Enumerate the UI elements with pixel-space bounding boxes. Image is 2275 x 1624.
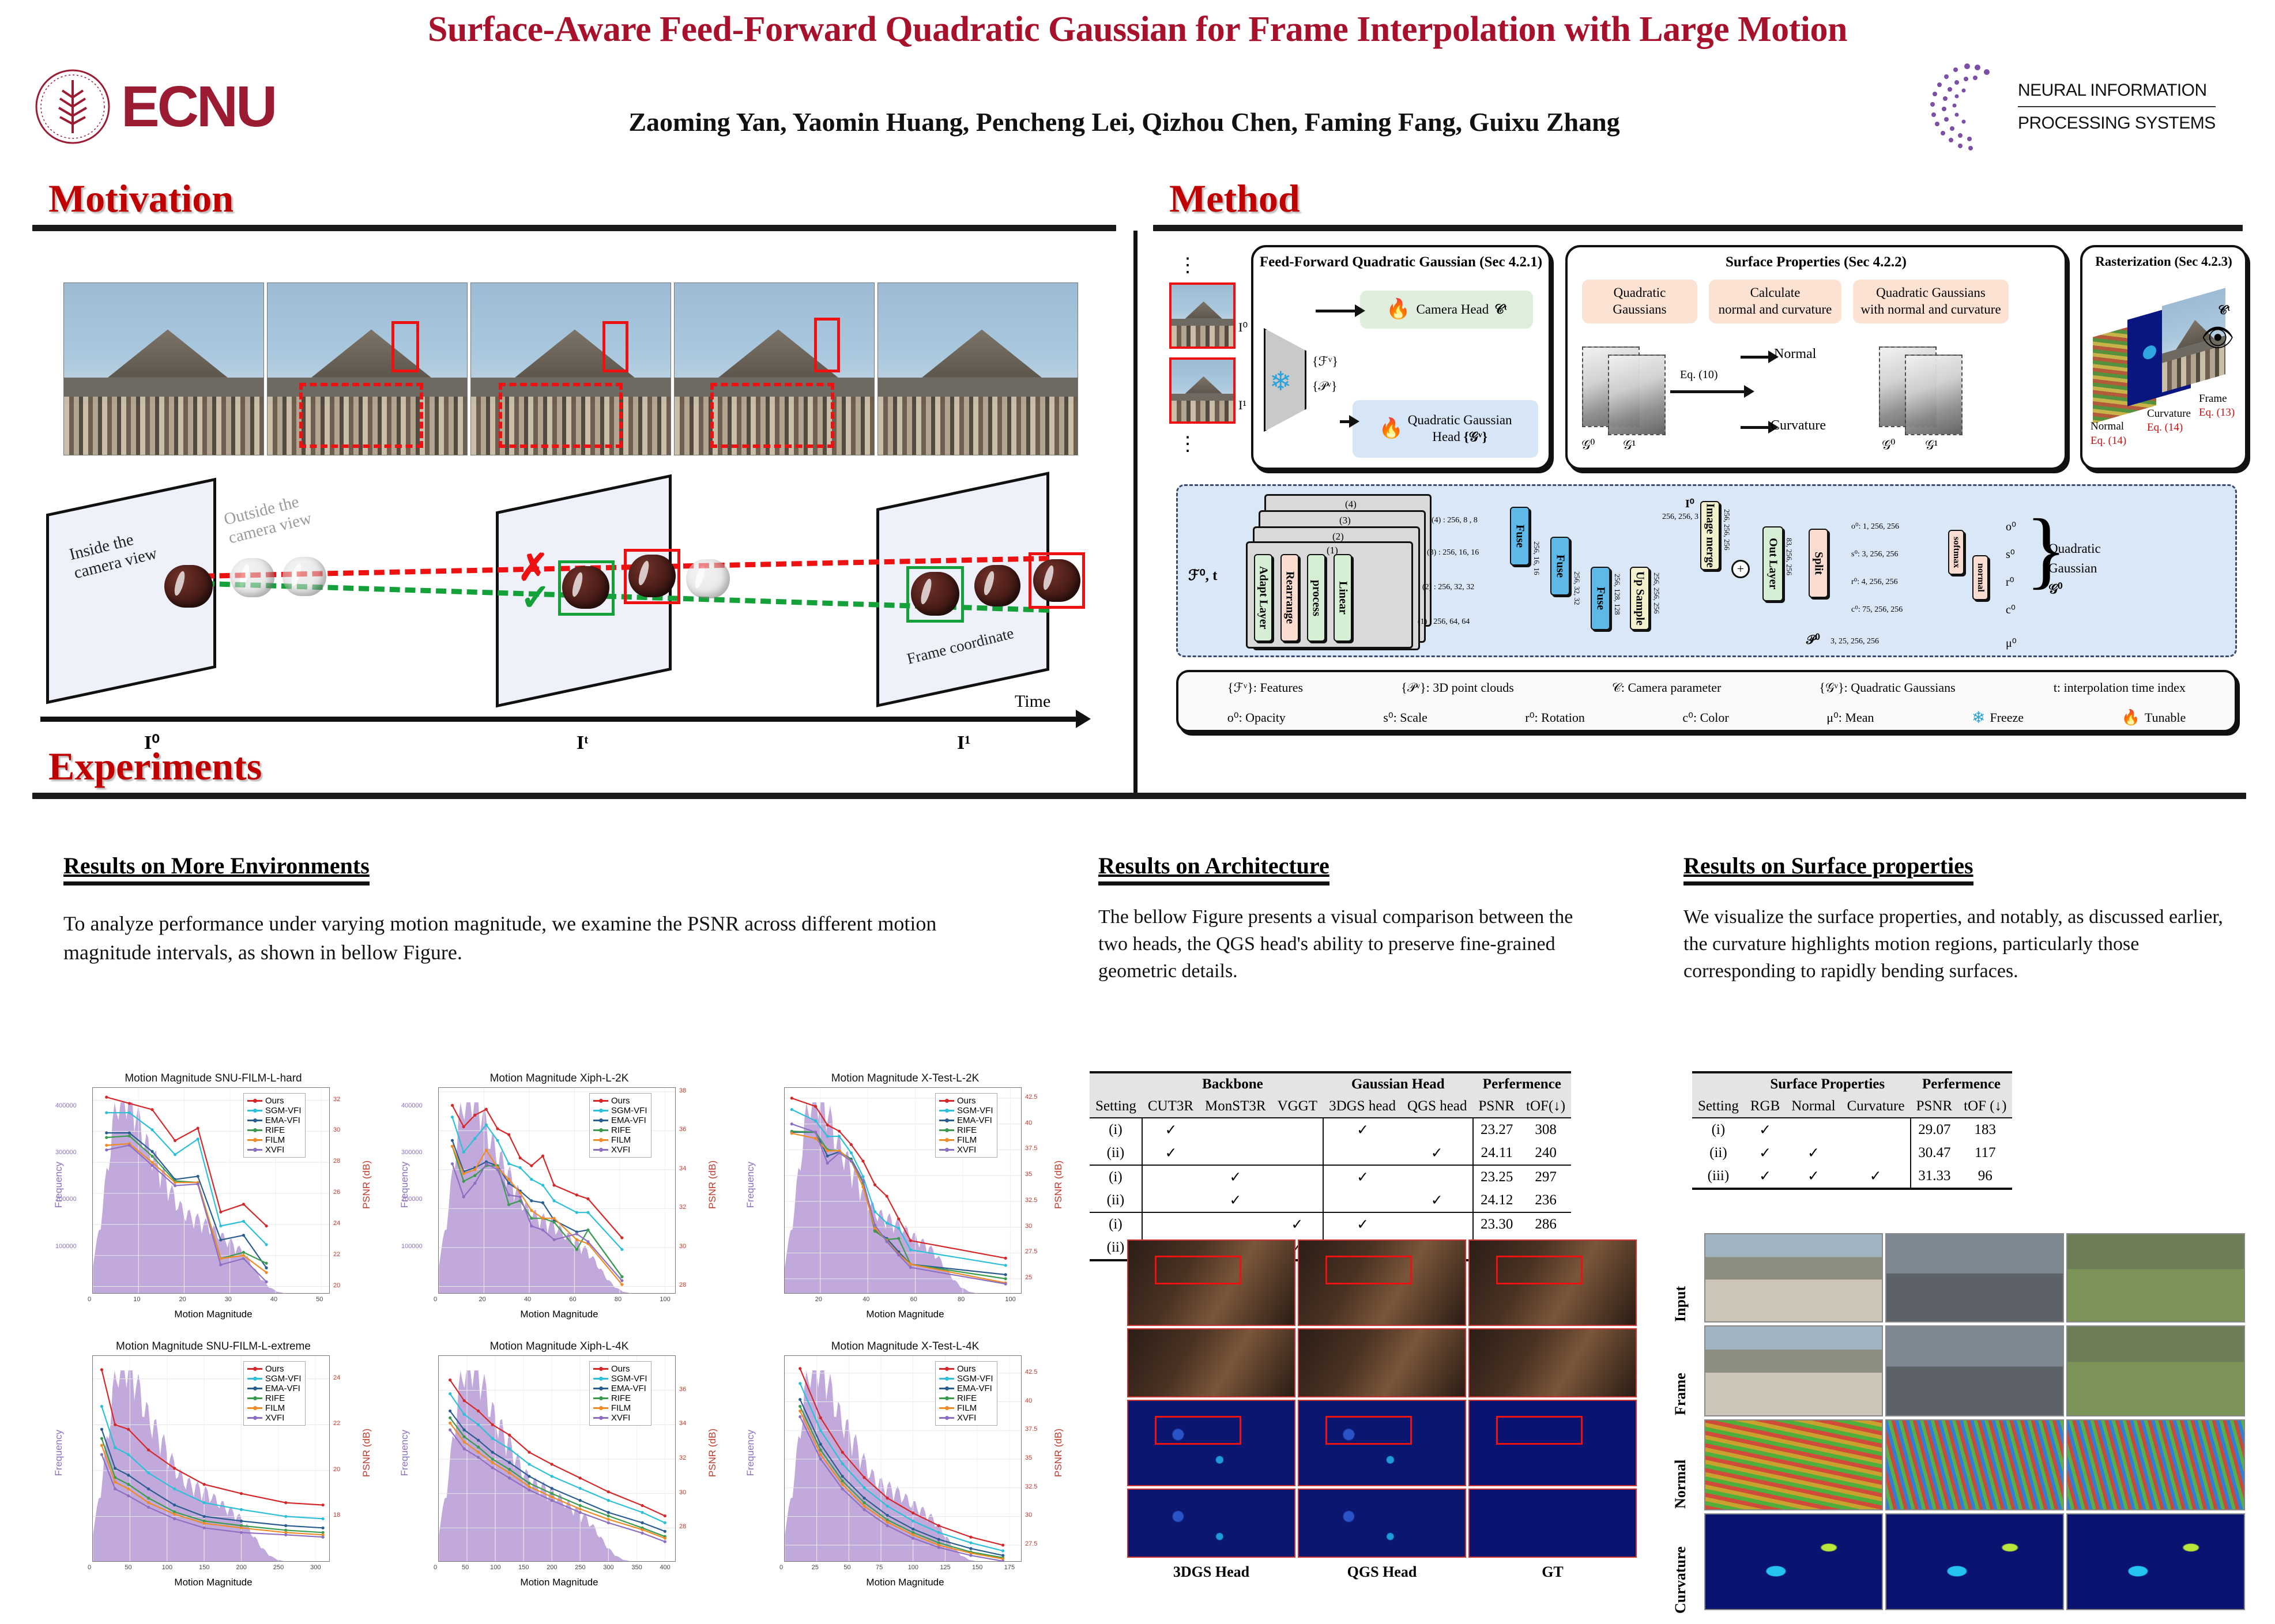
surf-cell-psnr: 30.47	[1911, 1141, 1958, 1165]
legend-freeze: Freeze	[1990, 710, 2024, 725]
arch-fuse-1-dim: 256, 16, 16	[1532, 541, 1541, 575]
features-symbol: {ℱᵛ}	[1312, 354, 1338, 369]
legend-color-swatch	[593, 1149, 608, 1151]
chart-xtick: 20	[179, 1296, 186, 1303]
method-input-I1-label: I¹	[1238, 398, 1246, 413]
legend-series-label: EMA-VFI	[265, 1384, 300, 1393]
camera-head-label: Camera Head	[1416, 302, 1489, 318]
surface-img-r1c3	[2066, 1233, 2245, 1322]
method-section: Method	[1153, 176, 2243, 231]
chart-legend-item: SGM-VFI	[247, 1106, 302, 1116]
chart-ylabel-right: PSNR (dB)	[707, 1429, 718, 1477]
legend-series-label: EMA-VFI	[265, 1116, 300, 1125]
chart-title: Motion Magnitude X-Test-L-4K	[744, 1340, 1067, 1353]
legend-series-label: FILM	[611, 1135, 631, 1145]
legend-series-label: EMA-VFI	[957, 1116, 992, 1125]
arch-img-r1c3	[1468, 1239, 1637, 1326]
legend-color-swatch	[593, 1139, 608, 1141]
legend-color-swatch	[939, 1139, 954, 1141]
arch-cell-vggt	[1272, 1141, 1323, 1165]
legend-color-swatch	[939, 1149, 954, 1151]
surface-results-table-wrap: Surface PropertiesPerfermenceSettingRGBN…	[1692, 1071, 2012, 1190]
legend-series-label: Ours	[265, 1096, 284, 1106]
ecnu-wordmark: ECNU	[121, 74, 275, 140]
chart-ytick-right: 32	[679, 1204, 686, 1211]
surf-cell-psnr: 31.33	[1911, 1165, 1958, 1189]
chart-xtick: 50	[125, 1564, 131, 1571]
g1-label-left: 𝒢¹	[1623, 438, 1636, 453]
chart-xlabel: Motion Magnitude	[744, 1577, 1067, 1588]
arrow-curvature	[1741, 426, 1769, 429]
section-header-method: Method	[1153, 176, 2243, 221]
arch-cell-psnr: 24.12	[1473, 1189, 1521, 1212]
arch-cell-setting: (ii)	[1090, 1141, 1142, 1165]
col1-heading: Results on More Environments	[63, 852, 370, 886]
chart-ytick-right: 37.5	[1025, 1426, 1037, 1433]
arch-upsample-dim: 256, 256, 256	[1652, 572, 1661, 614]
arch-sym-r: r⁰	[2006, 575, 2014, 589]
neurips-line-2: PROCESSING SYSTEMS	[2018, 111, 2216, 136]
surface-img-r4c2	[1885, 1513, 2064, 1610]
surf-col-3: Curvature	[1841, 1095, 1911, 1118]
arch-cell-monst3r	[1199, 1141, 1272, 1165]
chart-legend: OursSGM-VFIEMA-VFIRIFEFILMXVFI	[589, 1361, 651, 1426]
chart-5: Motion Magnitude Xiph-L-4K28303234360501…	[398, 1340, 721, 1588]
chart-title: Motion Magnitude Xiph-L-4K	[398, 1340, 721, 1353]
g1-label-right: 𝒢¹	[1925, 438, 1938, 453]
chart-ytick-right: 28	[679, 1282, 686, 1288]
legend-color-swatch	[593, 1129, 608, 1131]
normal-label: Normal	[1774, 346, 1816, 362]
arch-img-in-label: I⁰	[1685, 496, 1694, 511]
gaussian-cube-g1-out	[1905, 355, 1963, 435]
legend-points: {𝒫ᵛ}: 3D point clouds	[1401, 680, 1514, 695]
legend-series-label: FILM	[957, 1403, 977, 1413]
legend-color-swatch	[593, 1407, 608, 1409]
legend-color-swatch	[247, 1110, 262, 1111]
chart-xtick: 350	[631, 1564, 642, 1571]
chart-legend-item: XVFI	[247, 1145, 302, 1155]
legend-color-swatch	[593, 1397, 608, 1399]
arch-cell-cut3r	[1142, 1212, 1199, 1236]
arch-out-c: c⁰: 75, 256, 256	[1851, 605, 1903, 615]
surface-image-grid: Input Frame Normal Curvature	[1672, 1231, 2254, 1617]
arch-cell-tof: 308	[1520, 1118, 1571, 1141]
arch-fuse-3: Fuse	[1591, 567, 1610, 630]
arch-grid-caption-3: GT	[1468, 1563, 1637, 1581]
sp-box-with-normal-l1: Quadratic Gaussians	[1876, 285, 1986, 302]
g0-label-right: 𝒢⁰	[1882, 438, 1895, 453]
arch-grid-caption-1: 3DGS Head	[1127, 1563, 1295, 1581]
legend-series-label: RIFE	[265, 1125, 285, 1135]
chart-ytick-left: 300000	[55, 1149, 77, 1156]
arch-col-2: MonST3R	[1199, 1095, 1272, 1118]
surf-cell-normal: ✓	[1786, 1165, 1841, 1189]
legend-series-label: RIFE	[957, 1125, 977, 1135]
legend-color-swatch	[593, 1417, 608, 1419]
arch-img-r4c1	[1127, 1489, 1295, 1558]
chart-ylabel-left: Frequency	[53, 1430, 65, 1476]
arch-block-linear: Linear	[1334, 554, 1352, 642]
surf-cell-setting: (i)	[1692, 1118, 1745, 1141]
chart-ytick-right: 35	[1025, 1171, 1032, 1178]
chart-legend-item: Ours	[593, 1096, 647, 1106]
method-rule	[1153, 225, 2243, 231]
arch-brace-l2: Gaussian	[2048, 561, 2097, 576]
section-header-motivation: Motivation	[32, 176, 1116, 221]
legend-color-swatch	[939, 1388, 954, 1389]
table-row: (i)✓✓23.25297	[1090, 1165, 1571, 1189]
surf-cell-setting: (iii)	[1692, 1165, 1745, 1189]
chart-legend-item: SGM-VFI	[593, 1106, 647, 1116]
chart-2: Motion Magnitude Xiph-L-2K28303234363802…	[398, 1072, 721, 1320]
chart-4: Motion Magnitude SNU-FILM-L-extreme18202…	[52, 1340, 375, 1588]
points-symbol: {𝒫ᵛ}	[1312, 379, 1337, 394]
legend-series-label: XVFI	[265, 1145, 284, 1155]
chart-ylabel-left: Frequency	[745, 1430, 756, 1476]
method-panel-surface: Surface Properties (Sec 4.2.2) Quadratic…	[1565, 245, 2067, 470]
chart-legend-item: FILM	[939, 1403, 993, 1413]
chart-xtick: 400	[660, 1564, 670, 1571]
method-legend-box: {ℱᵛ}: Features {𝒫ᵛ}: 3D point clouds 𝒞: …	[1176, 670, 2237, 732]
legend-color-swatch	[593, 1120, 608, 1121]
arch-brace-l1: Quadratic	[2048, 541, 2101, 556]
arch-cell-setting: (i)	[1090, 1165, 1142, 1189]
chart-ytick-left: 100000	[55, 1243, 77, 1250]
curvature-label: Curvature	[1771, 418, 1826, 434]
arch-skip-4: (4) : 256, 8 , 8	[1432, 516, 1478, 525]
surface-img-r3c2	[1885, 1419, 2064, 1510]
legend-time: t: interpolation time index	[2054, 680, 2186, 695]
chart-legend-item: RIFE	[247, 1393, 302, 1403]
arch-cell-monst3r	[1199, 1118, 1272, 1141]
arch-grid-caption-2: QGS Head	[1298, 1563, 1466, 1581]
arch-block-adapt-layer: Adapt Layer	[1254, 554, 1272, 642]
arch-cell-tof: 240	[1520, 1141, 1571, 1165]
legend-series-label: Ours	[265, 1364, 284, 1374]
chart-ytick-right: 32.5	[1025, 1197, 1037, 1204]
outside-camera-view-label: Outside the camera view	[222, 482, 349, 548]
ecnu-logo: ECNU	[35, 63, 357, 150]
chart-legend-item: Ours	[247, 1364, 302, 1374]
ball-frame1-red-box	[1029, 552, 1085, 609]
chart-ylabel-left: Frequency	[399, 1430, 410, 1476]
chart-ytick-right: 30	[679, 1489, 686, 1496]
legend-color-swatch	[247, 1120, 262, 1121]
table-row: (ii)✓✓24.12236	[1090, 1189, 1571, 1212]
surface-row-caption-input: Input	[1672, 1235, 1689, 1322]
surf-cell-normal: ✓	[1786, 1141, 1841, 1165]
arch-upsample: Up Sample	[1630, 567, 1649, 630]
col2-heading: Results on Architecture	[1098, 852, 1329, 886]
surface-img-r2c3	[2066, 1325, 2245, 1416]
chart-legend-item: FILM	[247, 1135, 302, 1145]
legend-color-swatch	[593, 1110, 608, 1111]
arch-cell-monst3r: ✓	[1199, 1189, 1272, 1212]
legend-features: {ℱᵛ}: Features	[1227, 680, 1303, 695]
arch-cell-3dgs	[1323, 1141, 1402, 1165]
legend-series-label: RIFE	[611, 1125, 631, 1135]
arch-cell-monst3r: ✓	[1199, 1165, 1272, 1189]
chart-xlabel: Motion Magnitude	[52, 1577, 375, 1588]
legend-series-label: EMA-VFI	[611, 1384, 646, 1393]
experiments-col-1: Results on More Environments To analyze …	[63, 852, 1044, 967]
surf-cell-tof: 96	[1958, 1165, 2012, 1189]
col3-heading: Results on Surface properties	[1683, 852, 1973, 886]
method-legend-row-2: o⁰: Opacity s⁰: Scale r⁰: Rotation c⁰: C…	[1178, 708, 2235, 728]
arch-block-process: process	[1307, 554, 1325, 642]
arch-img-r1c1	[1127, 1239, 1295, 1326]
arch-sym-s: s⁰	[2006, 547, 2015, 562]
qgs-head-symbol: {𝒢ᵛ}	[1464, 429, 1487, 444]
legend-series-label: RIFE	[611, 1393, 631, 1403]
legend-series-label: SGM-VFI	[611, 1106, 647, 1116]
chart-ylabel-right: PSNR (dB)	[361, 1160, 372, 1209]
arch-block-rearrange: Rearrange	[1280, 554, 1299, 642]
method-architecture-panel: ℱ⁰, t (4) (3) (2) (1) Adapt Layer Rearra…	[1176, 484, 2237, 657]
chart-xtick: 100	[162, 1564, 172, 1571]
arch-cell-qgs	[1402, 1165, 1472, 1189]
ball-ghost-2	[283, 557, 326, 596]
chart-xtick: 0	[88, 1296, 91, 1303]
arch-fuse-2-dim: 256, 32, 32	[1572, 571, 1581, 605]
camera-head-symbol: 𝒞ᵗ	[1494, 302, 1507, 318]
method-panel-3-title: Rasterization (Sec 4.2.3)	[2082, 254, 2245, 269]
motivation-frame-1	[63, 282, 264, 455]
surf-cell-psnr: 29.07	[1911, 1118, 1958, 1141]
arch-col-7: tOF(↓)	[1520, 1095, 1571, 1118]
time-axis-label: Time	[1015, 692, 1050, 711]
chart-xlabel: Motion Magnitude	[398, 1577, 721, 1588]
vdots-bottom: ⋮	[1170, 432, 1205, 455]
chart-legend-item: Ours	[593, 1364, 647, 1374]
rast-camera-symbol: 𝒞ᵗ	[2218, 303, 2230, 318]
chart-legend: OursSGM-VFIEMA-VFIRIFEFILMXVFI	[935, 1361, 997, 1426]
chart-xtick: 20	[815, 1296, 822, 1303]
ball-frame1-green-box	[906, 566, 964, 623]
ball-frame1-mid	[974, 565, 1020, 606]
arch-cell-qgs	[1402, 1118, 1472, 1141]
chart-ytick-right: 18	[333, 1512, 340, 1519]
sp-box-calculate-l1: Calculate	[1750, 285, 1801, 302]
surface-img-r4c1	[1704, 1513, 1883, 1610]
arch-cell-tof: 236	[1520, 1189, 1571, 1212]
chart-ytick-right: 28	[679, 1523, 686, 1530]
surf-cell-curvature	[1841, 1118, 1911, 1141]
arch-img-r1c2	[1298, 1239, 1466, 1326]
arch-sym-mu: μ⁰	[2006, 636, 2017, 650]
snowflake-icon-legend: ❄	[1972, 708, 1985, 728]
legend-color-swatch	[939, 1378, 954, 1380]
arch-cell-vggt: ✓	[1272, 1212, 1323, 1236]
method-panel-1-title: Feed-Forward Quadratic Gaussian (Sec 4.2…	[1253, 254, 1549, 270]
arch-pointcloud-symbol: 𝒫⁰	[1806, 632, 1820, 647]
arch-out-s: s⁰: 3, 256, 256	[1851, 549, 1898, 559]
chart-ylabel-right: PSNR (dB)	[361, 1429, 372, 1477]
chart-xlabel: Motion Magnitude	[744, 1309, 1067, 1320]
chart-legend-item: EMA-VFI	[593, 1384, 647, 1393]
arch-cell-psnr: 23.25	[1473, 1165, 1521, 1189]
chart-ytick-right: 32	[333, 1096, 340, 1103]
arch-skip-2: (2) : 256, 32, 32	[1422, 583, 1474, 592]
arch-cell-setting: (i)	[1090, 1212, 1142, 1236]
legend-color-swatch	[247, 1149, 262, 1151]
qgs-head-label-2: Head	[1432, 429, 1460, 444]
legend-mean: μ⁰: Mean	[1826, 710, 1874, 725]
arch-fuse-2: Fuse	[1550, 537, 1570, 596]
chart-ytick-left: 300000	[401, 1149, 423, 1156]
chart-xtick: 30	[225, 1296, 232, 1303]
chart-ytick-right: 26	[333, 1189, 340, 1196]
legend-series-label: SGM-VFI	[957, 1374, 993, 1384]
chart-ytick-right: 36	[679, 1386, 686, 1393]
arch-image-merge-dim: 256, 256, 256	[1722, 509, 1731, 551]
chart-xtick: 50	[462, 1564, 469, 1571]
legend-color-swatch	[247, 1417, 262, 1419]
legend-series-label: XVFI	[957, 1413, 976, 1423]
legend-color-swatch	[247, 1129, 262, 1131]
chart-legend-item: EMA-VFI	[593, 1116, 647, 1125]
table-row: (ii)✓✓24.11240	[1090, 1141, 1571, 1165]
legend-color-swatch	[939, 1100, 954, 1102]
chart-xtick: 250	[273, 1564, 284, 1571]
motivation-schematic: Inside the camera view Outside the camer…	[40, 478, 1095, 755]
camera-head-box: 🔥 Camera Head 𝒞ᵗ	[1360, 291, 1533, 329]
legend-series-label: Ours	[957, 1096, 976, 1106]
chart-ytick-right: 20	[333, 1282, 340, 1289]
chart-ytick-left: 400000	[55, 1102, 77, 1109]
rast-frame-eq: Eq. (13)	[2199, 406, 2235, 419]
arch-col-6: PSNR	[1473, 1095, 1521, 1118]
chart-legend-item: FILM	[247, 1403, 302, 1413]
chart-legend-item: XVFI	[247, 1413, 302, 1423]
author-list: Zaoming Yan, Yaomin Huang, Pencheng Lei,…	[427, 107, 1822, 137]
legend-color-swatch	[247, 1397, 262, 1399]
chart-xtick: 200	[547, 1564, 557, 1571]
sp-box-calculate: Calculate normal and curvature	[1709, 280, 1841, 323]
ball-frame0	[164, 565, 213, 608]
arch-cell-3dgs: ✓	[1323, 1118, 1402, 1141]
arch-cell-setting: (i)	[1090, 1118, 1142, 1141]
rast-curvature-label: Curvature	[2147, 408, 2191, 420]
arch-cell-tof: 286	[1520, 1212, 1571, 1236]
legend-color-swatch	[939, 1129, 954, 1131]
legend-gaussians: {𝒢ᵛ}: Quadratic Gaussians	[1819, 680, 1955, 695]
chart-ytick-right: 32.5	[1025, 1483, 1037, 1490]
table-row: (ii)✓✓30.47117	[1692, 1141, 2012, 1165]
surf-th-perf: Perfermence	[1911, 1072, 2013, 1095]
legend-series-label: Ours	[611, 1364, 630, 1374]
arch-img-r3c1	[1127, 1400, 1295, 1486]
arch-stack-2-label: (2)	[1332, 531, 1344, 542]
chart-legend-item: XVFI	[939, 1145, 993, 1155]
legend-color-swatch	[939, 1417, 954, 1419]
legend-color-swatch	[939, 1368, 954, 1370]
motivation-frame-2	[267, 282, 468, 455]
chart-ytick-right: 24	[333, 1220, 340, 1227]
chart-ylabel-left: Frequency	[53, 1162, 65, 1208]
chart-xtick: 0	[88, 1564, 91, 1571]
chart-xtick: 100	[1005, 1296, 1015, 1303]
chart-xtick: 150	[199, 1564, 209, 1571]
chart-legend-item: EMA-VFI	[939, 1384, 993, 1393]
chart-legend: OursSGM-VFIEMA-VFIRIFEFILMXVFI	[243, 1361, 306, 1426]
chart-legend-item: Ours	[939, 1364, 993, 1374]
vdots-top: ⋮	[1170, 254, 1205, 277]
arch-col-3: VGGT	[1272, 1095, 1323, 1118]
ball-ghost-3	[686, 559, 730, 598]
chart-legend-item: Ours	[939, 1096, 993, 1106]
method-panel-2-title: Surface Properties (Sec 4.2.2)	[1568, 254, 2065, 270]
arch-cell-vggt	[1272, 1189, 1323, 1212]
rast-normal-label: Normal	[2091, 420, 2124, 433]
chart-ylabel-left: Frequency	[745, 1162, 756, 1208]
arch-normal-block: normal	[1972, 555, 1988, 600]
chart-ytick-right: 22	[333, 1420, 340, 1427]
chart-legend-item: EMA-VFI	[247, 1116, 302, 1125]
legend-series-label: SGM-VFI	[265, 1106, 302, 1116]
arch-cell-cut3r	[1142, 1165, 1199, 1189]
chart-ytick-right: 35	[1025, 1455, 1032, 1461]
surface-img-r4c3	[2066, 1513, 2245, 1610]
motivation-frame-4	[674, 282, 875, 455]
legend-series-label: XVFI	[611, 1145, 630, 1155]
chart-xtick: 75	[876, 1564, 883, 1571]
legend-series-label: Ours	[611, 1096, 630, 1106]
sp-box-quadratic-gaussians: Quadratic Gaussians	[1582, 280, 1697, 323]
arch-img-r4c3	[1468, 1489, 1637, 1558]
chart-6: Motion Magnitude X-Test-L-4K27.53032.535…	[744, 1340, 1067, 1588]
chart-legend: OursSGM-VFIEMA-VFIRIFEFILMXVFI	[935, 1093, 997, 1158]
surf-cell-rgb: ✓	[1745, 1141, 1786, 1165]
arch-cell-cut3r	[1142, 1189, 1199, 1212]
neurips-line-1: NEURAL INFORMATION	[2018, 78, 2216, 103]
chart-legend-item: XVFI	[593, 1413, 647, 1423]
surf-cell-curvature	[1841, 1141, 1911, 1165]
legend-color-swatch	[593, 1368, 608, 1370]
chart-ytick-right: 30	[679, 1243, 686, 1250]
legend-color-swatch	[939, 1397, 954, 1399]
arch-cell-qgs: ✓	[1402, 1189, 1472, 1212]
table-row: (i)✓✓23.27308	[1090, 1118, 1571, 1141]
chart-xlabel: Motion Magnitude	[398, 1309, 721, 1320]
table-row: (i)✓29.07183	[1692, 1118, 2012, 1141]
chart-xtick: 10	[133, 1296, 140, 1303]
arch-cell-qgs: ✓	[1402, 1141, 1472, 1165]
chart-xtick: 25	[812, 1564, 819, 1571]
chart-legend-item: XVFI	[593, 1145, 647, 1155]
col2-paragraph: The bellow Figure presents a visual comp…	[1098, 904, 1600, 985]
method-input-I0	[1169, 282, 1236, 349]
experiments-col-2: Results on Architecture The bellow Figur…	[1098, 852, 1617, 985]
chart-xtick: 100	[490, 1564, 500, 1571]
arch-sym-o: o⁰	[2006, 519, 2016, 534]
chart-legend-item: EMA-VFI	[247, 1384, 302, 1393]
chart-xtick: 0	[434, 1564, 437, 1571]
arch-cell-vggt	[1272, 1118, 1323, 1141]
legend-series-label: FILM	[265, 1403, 285, 1413]
arch-pointcloud-dim: 3, 25, 256, 256	[1830, 637, 1879, 646]
method-panel-rasterization: Rasterization (Sec 4.2.3) 👁 𝒞ᵗ Normal Eq…	[2080, 245, 2247, 470]
experiments-section: Experiments	[32, 744, 2246, 799]
chart-ytick-right: 28	[333, 1158, 340, 1165]
arch-th-blank	[1090, 1072, 1142, 1095]
motivation-rule	[32, 225, 1116, 231]
chart-legend-item: SGM-VFI	[939, 1106, 993, 1116]
chart-xtick: 175	[1004, 1564, 1015, 1571]
legend-color-swatch	[247, 1139, 262, 1141]
rast-curvature-eq: Eq. (14)	[2147, 421, 2183, 434]
